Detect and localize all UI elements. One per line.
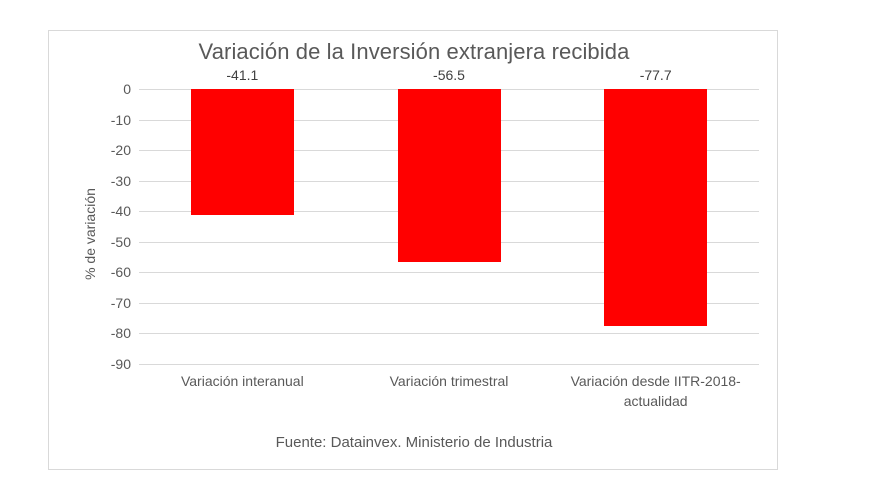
category-label-line: Variación trimestral <box>349 371 550 391</box>
y-axis-tick-label: -60 <box>71 264 131 280</box>
y-axis-tick-label: -70 <box>71 295 131 311</box>
chart-caption: Fuente: Datainvex. Ministerio de Industr… <box>49 434 779 451</box>
y-axis-tick-label: -90 <box>71 356 131 372</box>
y-axis-tick-label: -50 <box>71 234 131 250</box>
y-axis-tick-label: -40 <box>71 203 131 219</box>
data-labels: -41.1-56.5-77.7 <box>139 31 759 89</box>
bar-value-label: -77.7 <box>640 67 672 83</box>
bar[interactable] <box>398 89 501 262</box>
bar[interactable] <box>604 89 707 326</box>
y-axis-tick-label: -30 <box>71 173 131 189</box>
bar[interactable] <box>191 89 294 215</box>
category-label: Variación interanual <box>142 371 343 391</box>
category-label-line: Variación desde IITR-2018- <box>555 371 756 391</box>
y-axis-tick-label: 0 <box>71 81 131 97</box>
y-axis-tick-label: -80 <box>71 325 131 341</box>
category-label: Variación trimestral <box>349 371 550 391</box>
plot-area <box>139 89 759 364</box>
x-axis-category-labels: Variación interanualVariación trimestral… <box>139 371 759 431</box>
y-axis-tick-label: -20 <box>71 142 131 158</box>
gridline <box>139 364 759 365</box>
category-label: Variación desde IITR-2018-actualidad <box>555 371 756 411</box>
bar-value-label: -41.1 <box>226 67 258 83</box>
bar-value-label: -56.5 <box>433 67 465 83</box>
y-axis-tick-labels: 0-10-20-30-40-50-60-70-80-90 <box>69 89 131 364</box>
category-label-line: Variación interanual <box>142 371 343 391</box>
chart-container: Variación de la Inversión extranjera rec… <box>48 30 778 470</box>
category-label-line: actualidad <box>555 391 756 411</box>
y-axis-tick-label: -10 <box>71 112 131 128</box>
gridline <box>139 333 759 334</box>
